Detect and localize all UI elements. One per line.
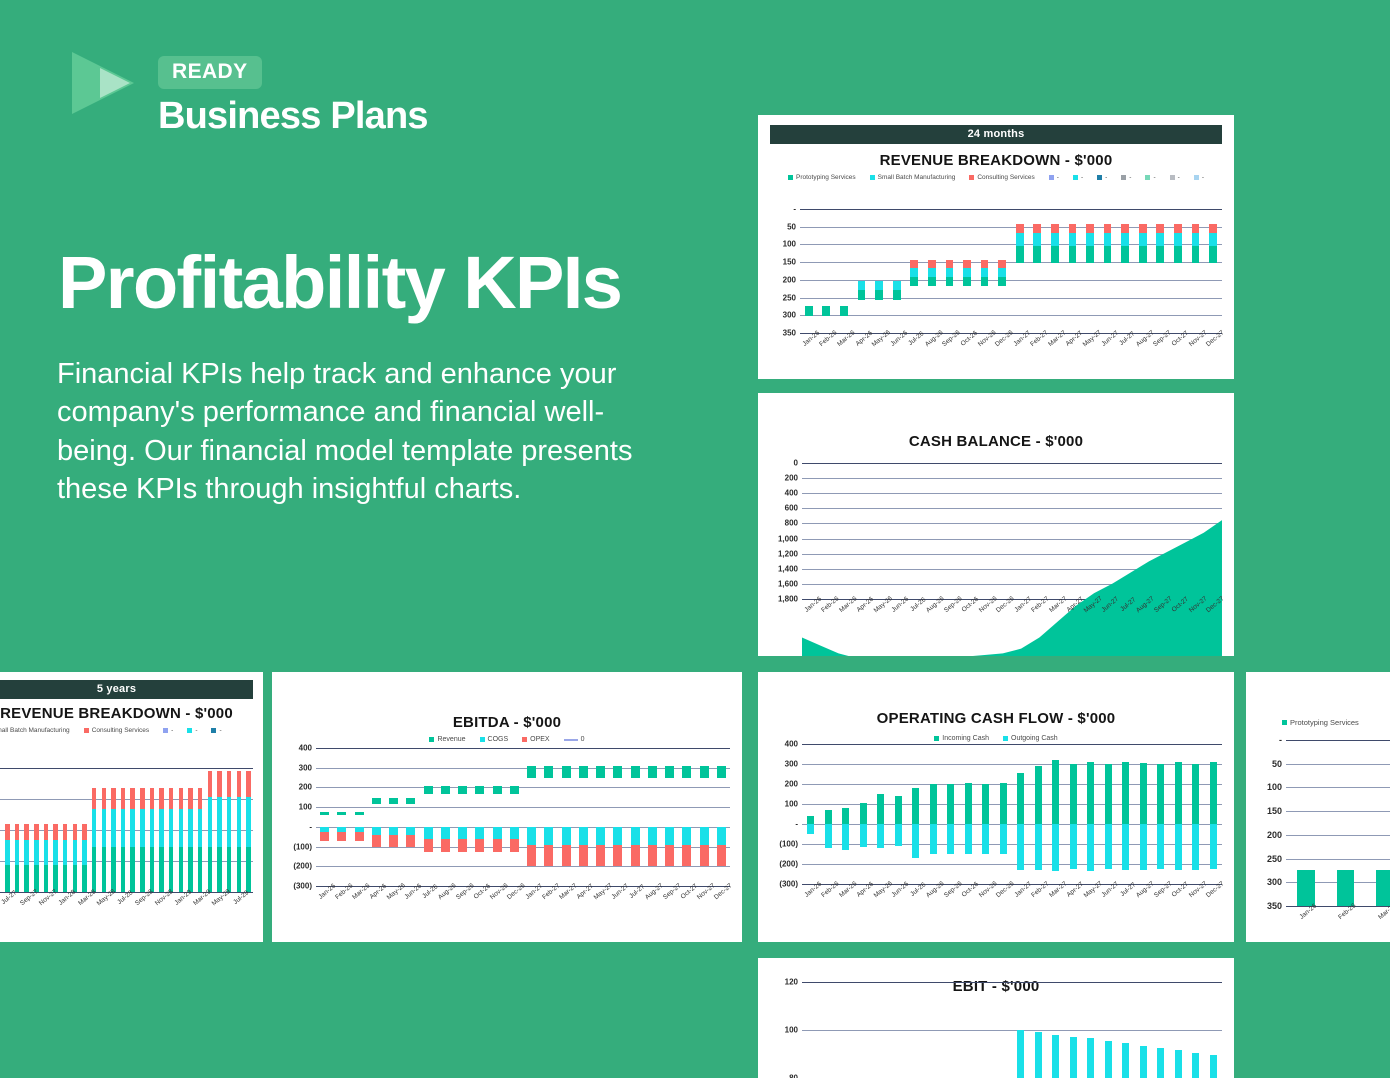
y-tick-label: 0	[794, 459, 798, 468]
bar-column[interactable]	[138, 768, 148, 892]
bar-segment	[24, 840, 28, 865]
bar-segment	[169, 788, 173, 809]
bar-segment	[1121, 233, 1129, 246]
y-tick-label: 100	[783, 240, 796, 249]
bar-segment	[246, 847, 250, 892]
bar-column[interactable]	[109, 768, 119, 892]
bar-segment	[5, 824, 9, 840]
bar-column[interactable]	[1116, 209, 1134, 333]
bar-segment	[1051, 246, 1059, 262]
y-tick-label: 200	[785, 474, 798, 483]
legend-item[interactable]: -	[1097, 174, 1107, 181]
bar-column[interactable]	[820, 982, 838, 1078]
bar-column[interactable]	[802, 982, 820, 1078]
bar-column[interactable]	[958, 209, 976, 333]
bar-column[interactable]	[1205, 982, 1223, 1078]
bar-column[interactable]	[1100, 744, 1118, 884]
bar-column[interactable]	[1135, 744, 1153, 884]
bar-column[interactable]	[1117, 982, 1135, 1078]
bar-segment	[875, 281, 883, 290]
bar-column[interactable]	[907, 982, 925, 1078]
y-axis-labels: 400300200100-(100)(200)(300)	[772, 744, 802, 884]
bar-column[interactable]	[1169, 209, 1187, 333]
bar-column[interactable]	[907, 744, 925, 884]
y-tick-label: 350	[1267, 901, 1282, 911]
bar-segment	[121, 809, 125, 847]
legend-label: Prototyping Services	[796, 174, 856, 181]
bar-column[interactable]	[176, 768, 186, 892]
bar-segment	[140, 847, 144, 892]
bar-segment	[1192, 764, 1199, 824]
bar-column[interactable]	[942, 744, 960, 884]
legend-item[interactable]: -	[163, 727, 173, 734]
bar-segment	[24, 824, 28, 840]
bar-segment	[1122, 762, 1129, 824]
bar-segment	[227, 771, 231, 797]
bar-column[interactable]	[224, 768, 234, 892]
legend-swatch	[969, 175, 974, 180]
bar-segment	[1192, 246, 1200, 262]
x-tick-label: Dec-27	[1205, 595, 1226, 614]
y-tick-label: (100)	[293, 842, 312, 851]
bar-column[interactable]	[960, 744, 978, 884]
x-axis-labels: Jan-26Feb-26Mar-26Apr-26May-26Jun-26Jul-…	[316, 886, 730, 932]
bar-segment	[63, 824, 67, 840]
bar-column[interactable]	[818, 209, 836, 333]
y-tick-label: 300	[299, 763, 312, 772]
bar-segment	[1175, 824, 1182, 870]
bar-segment	[860, 803, 867, 824]
bar-column[interactable]	[1152, 744, 1170, 884]
y-tick-label: 200	[299, 783, 312, 792]
legend-item[interactable]: -	[1145, 174, 1155, 181]
legend-label: Consulting Services	[977, 174, 1034, 181]
bar-segment	[237, 847, 241, 892]
bar-column[interactable]	[1064, 209, 1082, 333]
bar-segment	[822, 306, 830, 316]
bar-segment	[1297, 870, 1314, 906]
bar-column[interactable]	[837, 982, 855, 1078]
bar-column[interactable]	[925, 982, 943, 1078]
bar-segment	[63, 865, 67, 892]
bar-segment	[1086, 224, 1094, 233]
bar-column[interactable]	[890, 744, 908, 884]
chart-card-revenue-breakdown-5y[interactable]: 5 years REVENUE BREAKDOWN - $'000 Small …	[0, 672, 263, 942]
bar-segment	[1105, 764, 1112, 824]
chart-title: OPERATING CASH FLOW - $'000	[758, 710, 1234, 727]
bar-segment	[73, 824, 77, 840]
bar-column[interactable]	[1204, 209, 1222, 333]
bar-segment	[825, 824, 832, 848]
bar-segment	[1209, 246, 1217, 262]
legend-label: -	[1105, 174, 1107, 181]
bar-column[interactable]	[1082, 982, 1100, 1078]
bar-segment	[1104, 233, 1112, 246]
bar-column[interactable]	[1365, 740, 1390, 906]
bar-segment	[82, 840, 86, 865]
y-tick-label: 400	[299, 744, 312, 753]
chart-legend: Prototyping ServicesSmall Batch Manufact…	[770, 174, 1222, 181]
bar-column[interactable]	[1012, 982, 1030, 1078]
bar-segment	[840, 306, 848, 316]
chart-card-ebitda[interactable]: EBITDA - $'000 RevenueCOGSOPEX0 40030020…	[272, 672, 742, 942]
bar-segment	[1069, 224, 1077, 233]
brand-title: Business Plans	[158, 95, 428, 138]
bar-column[interactable]	[872, 982, 890, 1078]
bar-segment	[1157, 824, 1164, 869]
legend-item[interactable]: -	[1194, 174, 1204, 181]
bar-column[interactable]	[1152, 982, 1170, 1078]
bar-segment	[188, 847, 192, 892]
bar-segment	[179, 788, 183, 809]
legend-item[interactable]: Prototyping Services	[1282, 718, 1359, 727]
bar-segment	[998, 277, 1006, 287]
legend-label: -	[1178, 174, 1180, 181]
bar-segment	[1174, 233, 1182, 246]
bar-column[interactable]	[1326, 740, 1366, 906]
bar-segment	[159, 809, 163, 847]
bar-segment	[1016, 224, 1024, 233]
legend-label: -	[195, 727, 197, 734]
bar-segment	[121, 847, 125, 892]
bar-column[interactable]	[960, 982, 978, 1078]
legend-label: -	[1081, 174, 1083, 181]
bar-segment	[1017, 824, 1024, 870]
bar-segment	[140, 788, 144, 809]
bar-segment	[217, 771, 221, 797]
chart-card-ebit[interactable]: EBIT - $'000 12010080	[758, 958, 1234, 1078]
bar-column[interactable]	[195, 768, 205, 892]
legend-item[interactable]: COGS	[480, 736, 509, 743]
bar-column[interactable]	[995, 744, 1013, 884]
y-tick-label: 400	[785, 489, 798, 498]
legend-item[interactable]: Outgoing Cash	[1003, 735, 1058, 742]
chart-band-label: 24 months	[770, 125, 1222, 144]
bar-column[interactable]	[1065, 982, 1083, 1078]
legend-item[interactable]: OPEX	[522, 736, 549, 743]
y-tick-label: 100	[785, 1026, 798, 1035]
bar-segment	[1086, 233, 1094, 246]
legend-item[interactable]: Prototyping Services	[788, 174, 856, 181]
bar-column[interactable]	[923, 209, 941, 333]
chart-title: REVENUE BREAKDOWN - $'000	[770, 152, 1222, 169]
bar-segment	[1122, 824, 1129, 870]
bar-segment	[807, 824, 814, 834]
bar-column[interactable]	[976, 209, 994, 333]
bar-segment	[1033, 246, 1041, 262]
bar-segment	[963, 260, 971, 267]
bar-column[interactable]	[800, 209, 818, 333]
bar-segment	[1070, 824, 1077, 869]
bar-segment	[1139, 233, 1147, 246]
bar-segment	[179, 847, 183, 892]
bar-segment	[1210, 762, 1217, 824]
bar-column[interactable]	[941, 209, 959, 333]
x-tick-label: Feb-26	[1337, 902, 1357, 921]
bar-segment	[1209, 224, 1217, 233]
chart-title: CASH BALANCE - $'000	[758, 433, 1234, 450]
bar-column[interactable]	[31, 768, 41, 892]
bar-segment	[1051, 224, 1059, 233]
bar-segment	[1052, 824, 1059, 871]
bar-column[interactable]	[995, 982, 1013, 1078]
legend-item[interactable]: -	[211, 727, 221, 734]
bar-column[interactable]	[60, 768, 70, 892]
legend-item[interactable]: -	[187, 727, 197, 734]
bar-segment	[102, 847, 106, 892]
bar-segment	[53, 840, 57, 865]
bar-segment	[159, 847, 163, 892]
bar-segment	[1122, 1043, 1129, 1078]
bar-column[interactable]	[1046, 209, 1064, 333]
bar-column[interactable]	[870, 209, 888, 333]
bar-column[interactable]	[977, 744, 995, 884]
chart-title: EBITDA - $'000	[272, 714, 742, 731]
bar-segment	[246, 771, 250, 797]
bar-segment	[44, 824, 48, 840]
legend-item[interactable]: 0	[564, 736, 585, 743]
legend-item[interactable]: Revenue	[429, 736, 465, 743]
legend-item[interactable]: -	[1121, 174, 1131, 181]
bar-segment	[227, 797, 231, 847]
bar-column[interactable]	[128, 768, 138, 892]
hero-body-text: Financial KPIs help track and enhance yo…	[57, 355, 657, 508]
bar-column[interactable]	[872, 744, 890, 884]
bar-segment	[1017, 773, 1024, 824]
bar-segment	[998, 268, 1006, 277]
legend-label: -	[1129, 174, 1131, 181]
bar-segment	[1087, 824, 1094, 871]
bar-column[interactable]	[855, 744, 873, 884]
bar-segment	[1104, 246, 1112, 262]
bar-column[interactable]	[1030, 744, 1048, 884]
x-axis-labels: Jan-26Feb-26Mar-26Apr-26May-26Jun-26Jul-…	[802, 599, 1222, 645]
bar-segment	[73, 840, 77, 865]
y-tick-label: (200)	[293, 862, 312, 871]
chart-card-cash-balance[interactable]: CASH BALANCE - $'000 02004006008001,0001…	[758, 393, 1234, 656]
chart-plot-area: 400300200100-(100)(200)(300)Jan-26Feb-26…	[286, 748, 732, 886]
bar-column[interactable]	[215, 768, 225, 892]
bar-segment	[910, 260, 918, 267]
bar-column[interactable]	[1134, 209, 1152, 333]
bar-segment	[1337, 870, 1354, 906]
bar-column[interactable]	[1170, 744, 1188, 884]
bar-column[interactable]	[942, 982, 960, 1078]
bar-column[interactable]	[905, 209, 923, 333]
y-tick-label: 600	[785, 504, 798, 513]
bar-column[interactable]	[1047, 982, 1065, 1078]
bar-segment	[44, 865, 48, 892]
bar-column[interactable]	[1187, 744, 1205, 884]
bar-column[interactable]	[41, 768, 51, 892]
bar-segment	[1035, 824, 1042, 870]
chart-plot-area: -50100150200250300350Jan-26Feb-26Mar-26A…	[1256, 740, 1390, 906]
y-tick-label: 250	[1267, 854, 1282, 864]
bar-segment	[1139, 246, 1147, 262]
bar-column[interactable]	[1187, 209, 1205, 333]
bar-column[interactable]	[1081, 209, 1099, 333]
bar-segment	[858, 281, 866, 290]
bar-column[interactable]	[837, 744, 855, 884]
bar-segment	[1157, 764, 1164, 824]
bar-segment	[208, 797, 212, 847]
legend-swatch	[1282, 720, 1287, 725]
bar-segment	[150, 847, 154, 892]
y-tick-label: 100	[299, 803, 312, 812]
chart-card-operating-cash-flow[interactable]: OPERATING CASH FLOW - $'000 Incoming Cas…	[758, 672, 1234, 942]
bar-column[interactable]	[925, 744, 943, 884]
bar-column[interactable]	[99, 768, 109, 892]
y-tick-label: 200	[785, 780, 798, 789]
bar-segment	[1174, 224, 1182, 233]
bar-column[interactable]	[1047, 744, 1065, 884]
bar-column[interactable]	[1029, 209, 1047, 333]
bar-segment	[92, 788, 96, 809]
bar-column[interactable]	[1082, 744, 1100, 884]
bar-column[interactable]	[853, 209, 871, 333]
chart-legend: RevenueCOGSOPEX0	[272, 736, 742, 743]
bar-segment	[159, 788, 163, 809]
legend-item[interactable]: Consulting Services	[84, 727, 149, 734]
bar-segment	[217, 847, 221, 892]
legend-item[interactable]: -	[1049, 174, 1059, 181]
bar-segment	[1192, 233, 1200, 246]
y-tick-label: 200	[783, 275, 796, 284]
chart-legend: Small Batch ManufacturingConsulting Serv…	[0, 727, 253, 734]
x-tick-label: Jan-26	[1298, 903, 1318, 921]
bar-segment	[1051, 233, 1059, 246]
bar-segment	[1175, 1050, 1182, 1078]
bar-column[interactable]	[80, 768, 90, 892]
y-tick-label: -	[1279, 735, 1282, 745]
chart-plot-area: -27Mar-27Jul-27Sep-27Nov-27Jan-28Mar-28M…	[0, 768, 255, 892]
bar-column[interactable]	[1030, 982, 1048, 1078]
bar-column[interactable]	[51, 768, 61, 892]
bar-segment	[930, 824, 937, 854]
bar-column[interactable]	[118, 768, 128, 892]
bar-segment	[246, 797, 250, 847]
x-axis-labels: Jan-26Feb-26Mar-26Apr-26May-26Jun-26Jul-…	[800, 333, 1222, 379]
bar-column[interactable]	[1286, 740, 1326, 906]
bar-segment	[877, 824, 884, 848]
legend-swatch	[1049, 175, 1054, 180]
bar-column[interactable]	[802, 744, 820, 884]
y-tick-label: 800	[785, 519, 798, 528]
bar-column[interactable]	[234, 768, 244, 892]
legend-label: COGS	[488, 736, 509, 743]
bar-column[interactable]	[855, 982, 873, 1078]
bar-column[interactable]	[186, 768, 196, 892]
bar-segment	[111, 847, 115, 892]
bar-column[interactable]	[1011, 209, 1029, 333]
legend-item[interactable]: Small Batch Manufacturing	[0, 727, 70, 734]
bar-segment	[82, 824, 86, 840]
bar-segment	[947, 824, 954, 854]
legend-swatch	[1073, 175, 1078, 180]
legend-swatch	[1003, 736, 1008, 741]
bar-column[interactable]	[244, 768, 254, 892]
chart-card-prototyping-services[interactable]: Prototyping Services -501001502002503003…	[1246, 672, 1390, 942]
bar-column[interactable]	[888, 209, 906, 333]
bar-column[interactable]	[157, 768, 167, 892]
bar-segment	[15, 840, 19, 865]
bar-column[interactable]	[3, 768, 13, 892]
bar-column[interactable]	[977, 982, 995, 1078]
bar-column[interactable]	[1187, 982, 1205, 1078]
bar-segment	[893, 290, 901, 300]
bar-column[interactable]	[1152, 209, 1170, 333]
chart-card-revenue-breakdown-24m[interactable]: 24 months REVENUE BREAKDOWN - $'000 Prot…	[758, 115, 1234, 379]
legend-label: Incoming Cash	[942, 735, 989, 742]
legend-label: -	[1202, 174, 1204, 181]
bar-segment	[928, 268, 936, 277]
bar-segment	[34, 824, 38, 840]
bar-column[interactable]	[835, 209, 853, 333]
legend-item[interactable]: -	[1073, 174, 1083, 181]
bar-column[interactable]	[205, 768, 215, 892]
bar-segment	[15, 865, 19, 892]
bar-column[interactable]	[1117, 744, 1135, 884]
legend-label: -	[1153, 174, 1155, 181]
chart-band-label: 5 years	[0, 680, 253, 699]
bar-column[interactable]	[993, 209, 1011, 333]
bar-column[interactable]	[890, 982, 908, 1078]
bar-column[interactable]	[147, 768, 157, 892]
bar-column[interactable]	[1099, 209, 1117, 333]
bar-column[interactable]	[1205, 744, 1223, 884]
y-tick-label: 300	[783, 311, 796, 320]
y-tick-label: 120	[785, 978, 798, 987]
y-tick-label: (300)	[779, 880, 798, 889]
legend-item[interactable]: Consulting Services	[969, 174, 1034, 181]
legend-swatch	[163, 728, 168, 733]
bar-segment	[227, 847, 231, 892]
bar-segment	[981, 277, 989, 287]
bar-column[interactable]	[1065, 744, 1083, 884]
bar-column[interactable]	[70, 768, 80, 892]
bar-column[interactable]	[166, 768, 176, 892]
bar-segment	[1156, 233, 1164, 246]
legend-label: Outgoing Cash	[1011, 735, 1058, 742]
bar-segment	[198, 809, 202, 847]
bar-segment	[169, 847, 173, 892]
bar-series	[0, 768, 253, 892]
bar-column[interactable]	[1170, 982, 1188, 1078]
legend-item[interactable]: Small Batch Manufacturing	[870, 174, 956, 181]
legend-item[interactable]: Incoming Cash	[934, 735, 989, 742]
legend-swatch	[788, 175, 793, 180]
bar-segment	[179, 809, 183, 847]
legend-item[interactable]: -	[1170, 174, 1180, 181]
x-tick-label: Dec-27	[1205, 329, 1226, 348]
bar-segment	[198, 788, 202, 809]
bar-segment	[5, 840, 9, 865]
bar-segment	[1209, 233, 1217, 246]
bar-segment	[1087, 762, 1094, 824]
legend-swatch	[187, 728, 192, 733]
bar-column[interactable]	[12, 768, 22, 892]
bar-segment	[1105, 824, 1112, 869]
bar-segment	[1210, 1055, 1217, 1078]
bar-column[interactable]	[1100, 982, 1118, 1078]
bar-column[interactable]	[820, 744, 838, 884]
bar-column[interactable]	[89, 768, 99, 892]
bar-segment	[1052, 760, 1059, 824]
bar-column[interactable]	[1135, 982, 1153, 1078]
bar-segment	[34, 840, 38, 865]
bar-column[interactable]	[22, 768, 32, 892]
bar-column[interactable]	[1012, 744, 1030, 884]
